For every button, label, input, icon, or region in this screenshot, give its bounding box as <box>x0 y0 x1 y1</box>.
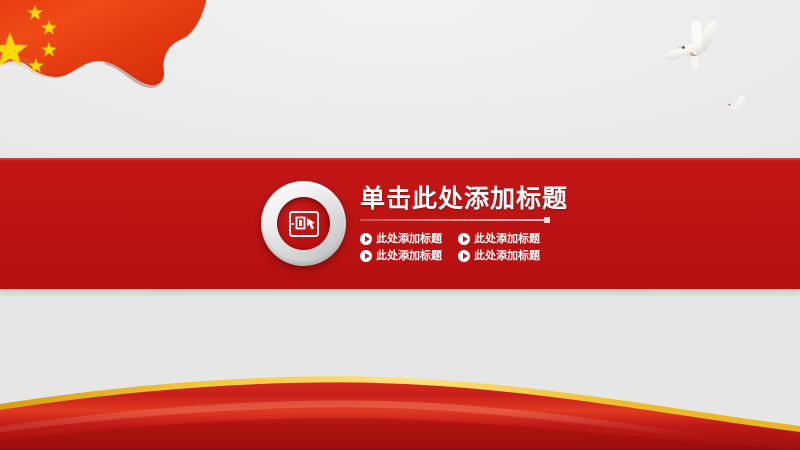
list-item-label: 此处添加标题 <box>474 233 540 245</box>
play-arrow-icon <box>458 250 470 262</box>
list-item[interactable]: 此处添加标题 <box>458 230 553 247</box>
bottom-ribbon-decoration <box>0 360 800 450</box>
banner-highlight <box>0 158 800 161</box>
title-divider <box>360 219 547 221</box>
tablet-hand-tap-icon <box>287 209 321 239</box>
presentation-slide: 单击此处添加标题 此处添加标题 此处添加标题 此处添加标题 此处添加标题 <box>0 0 800 450</box>
play-arrow-icon <box>360 233 372 245</box>
dove-icon <box>718 92 754 118</box>
bullet-list: 此处添加标题 此处添加标题 此处添加标题 此处添加标题 <box>360 230 690 264</box>
divider-dot <box>544 217 550 223</box>
play-arrow-icon <box>458 233 470 245</box>
list-item-label: 此处添加标题 <box>474 250 540 262</box>
title-block: 单击此处添加标题 此处添加标题 此处添加标题 此处添加标题 此处添加标题 <box>360 183 690 264</box>
list-item-label: 此处添加标题 <box>376 233 442 245</box>
chinese-flag-icon <box>0 0 209 121</box>
page-title: 单击此处添加标题 <box>360 183 690 215</box>
list-item[interactable]: 此处添加标题 <box>360 230 455 247</box>
list-item[interactable]: 此处添加标题 <box>458 247 553 264</box>
play-arrow-icon <box>360 250 372 262</box>
list-item-label: 此处添加标题 <box>376 250 442 262</box>
dove-icon <box>660 18 732 86</box>
emblem-inner-circle <box>277 197 330 250</box>
list-item[interactable]: 此处添加标题 <box>360 247 455 264</box>
emblem-badge[interactable] <box>261 181 346 266</box>
